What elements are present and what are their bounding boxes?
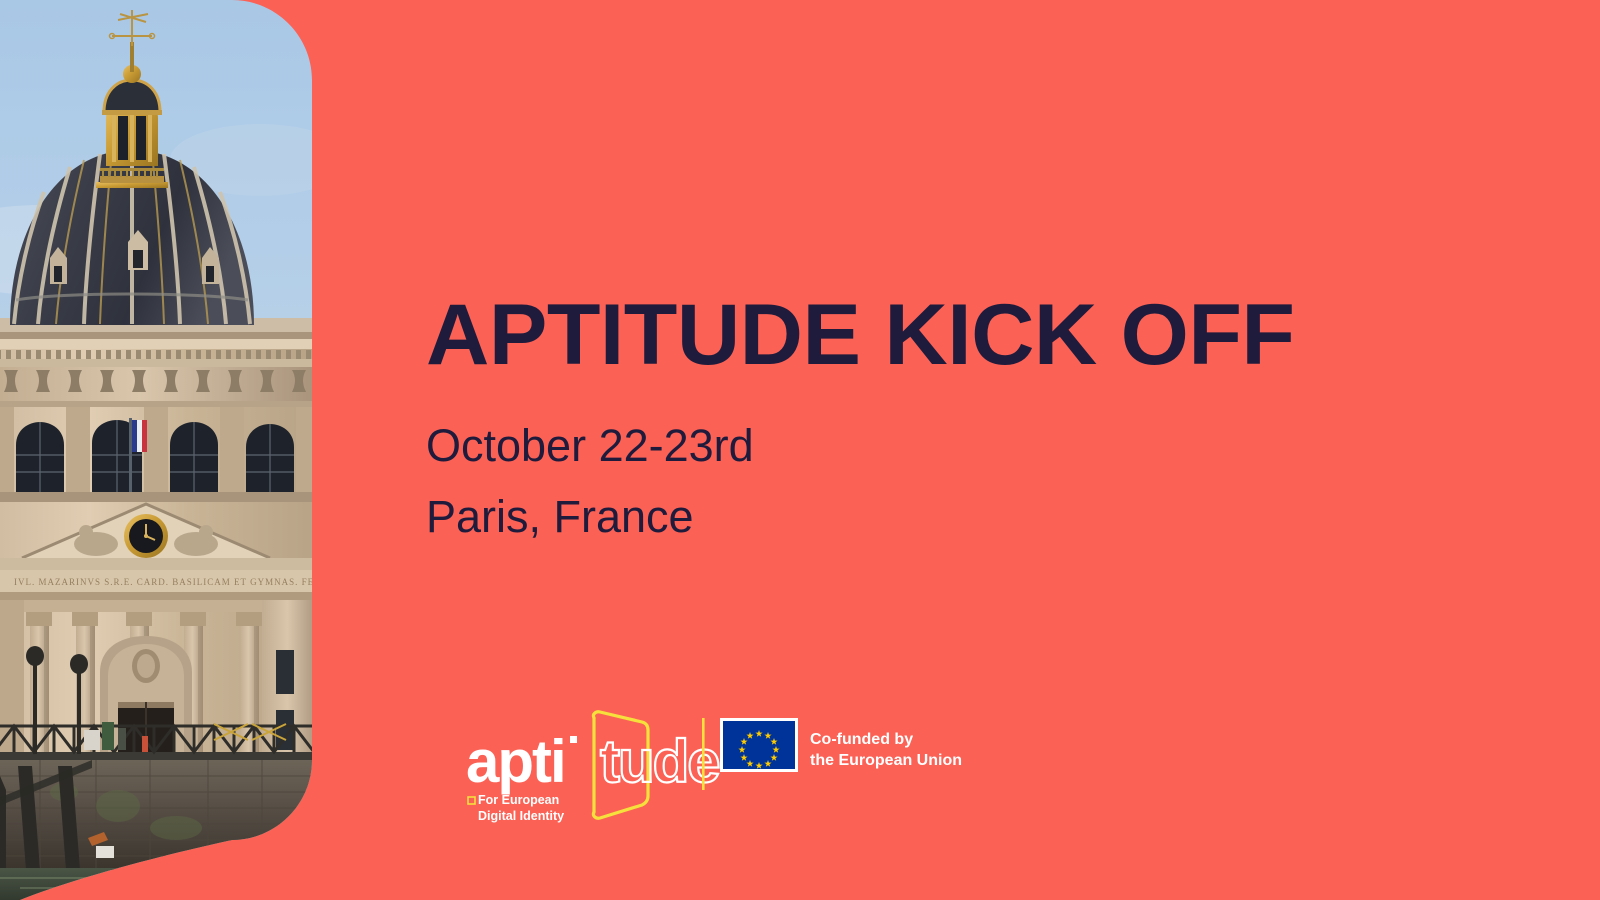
aptitude-wordmark-outline: tude <box>600 728 719 795</box>
aptitude-wordmark-solid: apti <box>466 728 565 795</box>
paris-institut-de-france-photo: IVL. MAZARINVS S.R.E. CARD. BASILICAM ET… <box>0 0 312 900</box>
event-location: Paris, France <box>426 487 1277 546</box>
eu-funding-line2: the European Union <box>810 752 962 769</box>
eu-funding-line1: Co-funded by <box>810 731 913 748</box>
event-details: October 22-23rd Paris, France <box>426 416 1277 547</box>
event-date: October 22-23rd <box>426 416 1277 475</box>
logo-tagline-line2: Digital Identity <box>478 809 564 823</box>
lockup-divider <box>702 718 705 790</box>
eu-flag-icon <box>720 718 798 772</box>
page-title: APTITUDE KICK OFF <box>426 292 1294 378</box>
hero-copy: APTITUDE KICK OFF October 22-23rd Paris,… <box>426 292 1277 559</box>
tagline-bullet-icon <box>468 797 475 804</box>
logo-tagline-line1: For European <box>478 793 559 807</box>
photo-panel: IVL. MAZARINVS S.R.E. CARD. BASILICAM ET… <box>0 0 312 900</box>
svg-text:IVL. MAZARINVS S.R.E. CARD. BA: IVL. MAZARINVS S.R.E. CARD. BASILICAM ET… <box>14 577 312 587</box>
poster-canvas: IVL. MAZARINVS S.R.E. CARD. BASILICAM ET… <box>0 0 1600 900</box>
footer-logo-lockup: apti tude For European Digital Identity <box>466 700 986 840</box>
